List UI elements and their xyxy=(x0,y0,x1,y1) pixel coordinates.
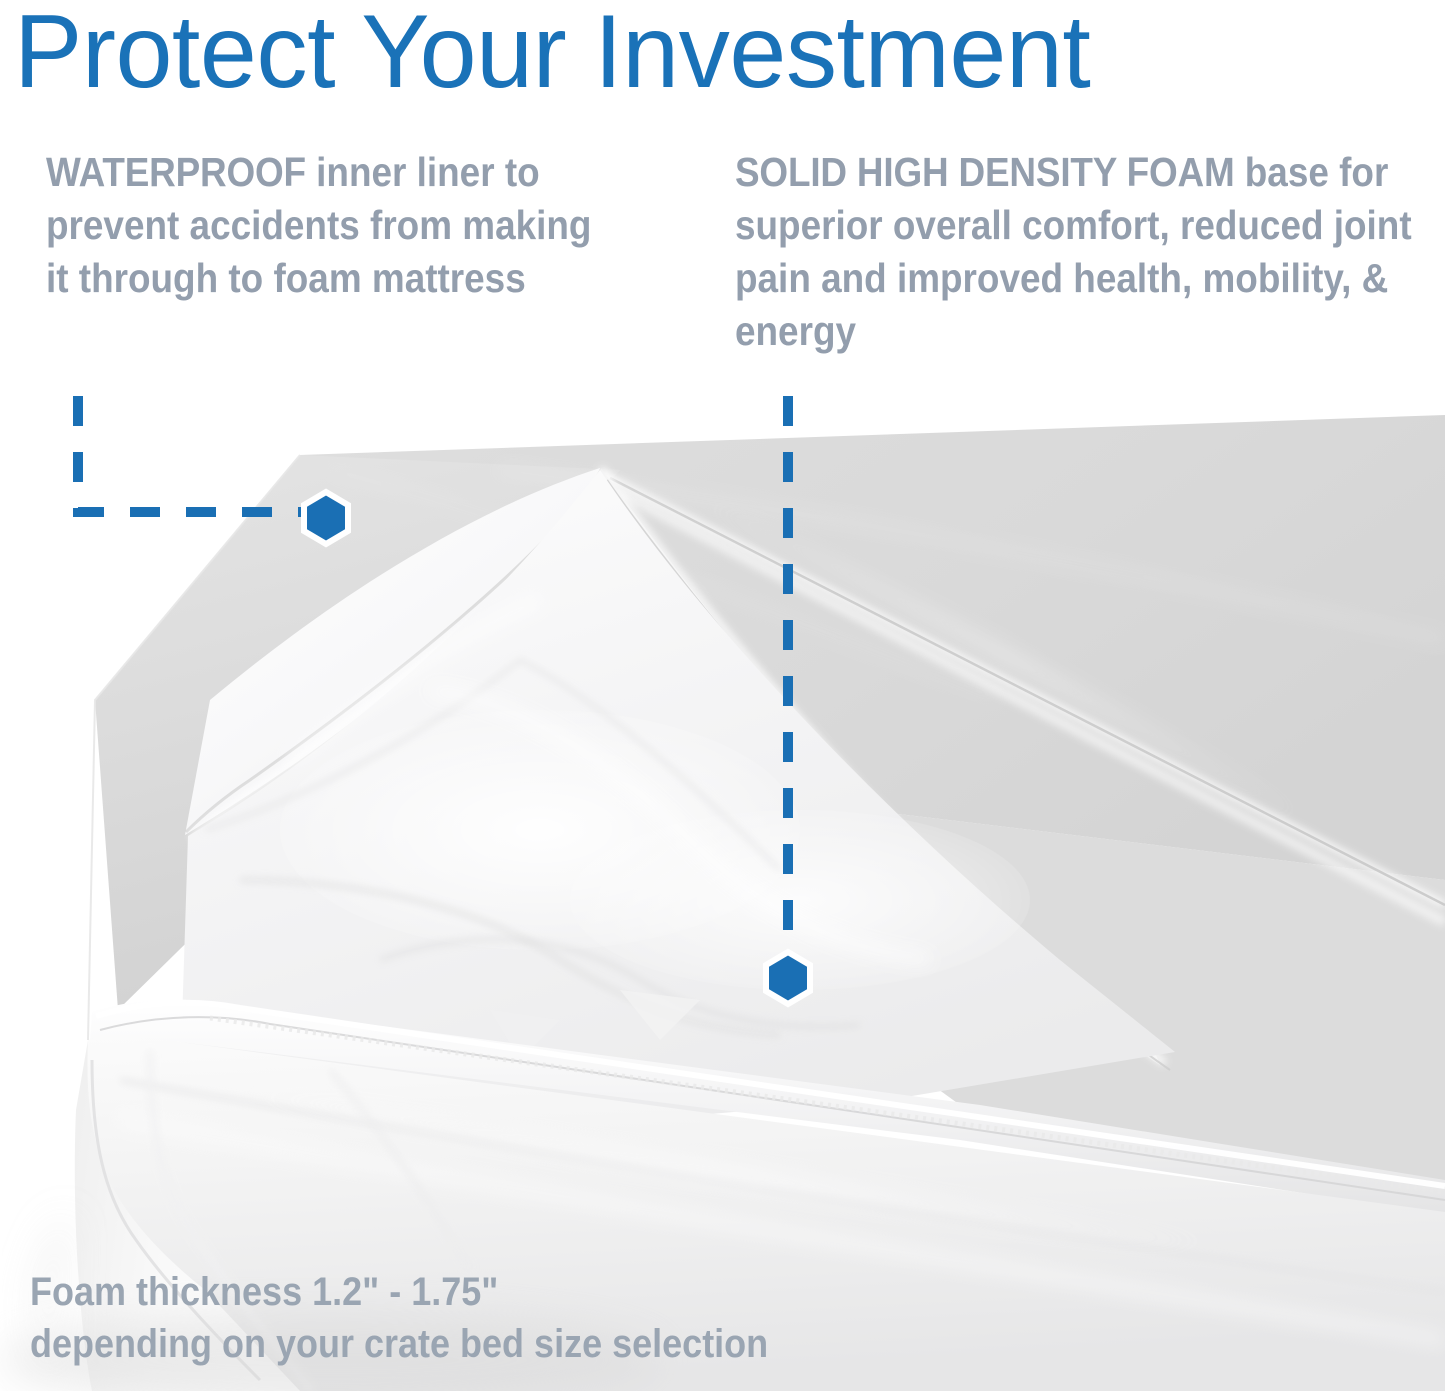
footer-note-line-1: Foam thickness 1.2" - 1.75" xyxy=(30,1266,885,1318)
footer-note-line-2: depending on your crate bed size selecti… xyxy=(30,1318,885,1370)
infographic-root: Protect Your Investment WATERPROOF inner… xyxy=(0,0,1445,1391)
product-photo xyxy=(0,0,1445,1391)
footer-note: Foam thickness 1.2" - 1.75" depending on… xyxy=(30,1266,885,1370)
